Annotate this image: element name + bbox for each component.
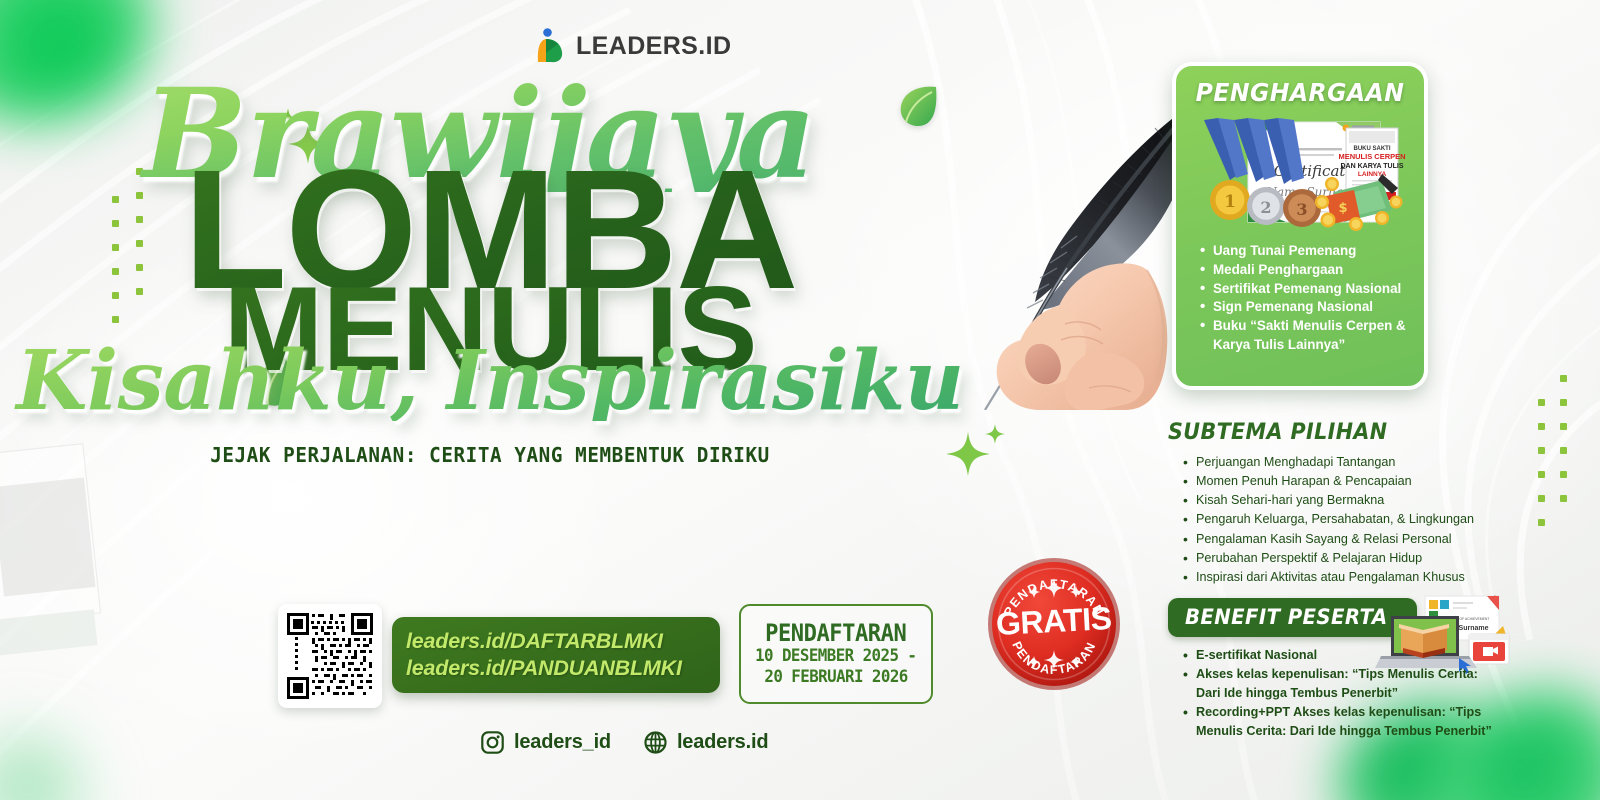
award-card-title: PENGHARGAAN bbox=[1193, 78, 1407, 107]
leaders-id-mark-icon bbox=[533, 28, 567, 64]
benefit-section: BENEFIT PESERTA CERTIFICATE OF ACHIEVEME… bbox=[1168, 598, 1508, 741]
award-benefits-list: Uang Tunai Pemenang Medali Penghargaan S… bbox=[1186, 242, 1414, 354]
list-item: Perjuangan Menghadapi Tantangan bbox=[1186, 453, 1498, 472]
registration-period-line1: 10 DESEMBER 2025 - bbox=[755, 646, 916, 666]
logo-text: LEADERS.ID bbox=[576, 32, 731, 61]
subtema-list: Perjuangan Menghadapi Tantangan Momen Pe… bbox=[1168, 453, 1498, 587]
website-handle: leaders.id bbox=[677, 731, 768, 754]
svg-text:2: 2 bbox=[1260, 198, 1271, 217]
dot-pattern-right bbox=[1538, 375, 1598, 515]
list-item: Menulis Cerita: Dari Ide hingga Tembus P… bbox=[1186, 723, 1508, 741]
corner-blob-bottom-left bbox=[0, 720, 100, 800]
globe-icon bbox=[643, 730, 668, 755]
list-item: Akses kelas kepenulisan: “Tips Menulis C… bbox=[1186, 666, 1508, 684]
svg-text:1: 1 bbox=[1224, 192, 1236, 212]
list-item: Dari Ide hingga Tembus Penerbit” bbox=[1186, 685, 1508, 703]
list-item: E-sertifikat Nasional bbox=[1186, 647, 1508, 665]
list-item: Recording+PPT Akses kelas kepenulisan: “… bbox=[1186, 704, 1508, 722]
list-item: Pengaruh Keluarga, Persahabatan, & Lingk… bbox=[1186, 510, 1498, 529]
list-item: Uang Tunai Pemenang bbox=[1202, 242, 1414, 260]
footer-socials: leaders_id leaders.id bbox=[480, 730, 768, 755]
registration-period-title: PENDAFTARAN bbox=[765, 621, 906, 646]
svg-text:3: 3 bbox=[1296, 200, 1307, 219]
list-item: Buku “Sakti Menulis Cerpen & bbox=[1202, 317, 1414, 335]
award-card: PENGHARGAAN Certificate Name Surname bbox=[1172, 62, 1428, 390]
headline-tagline: JEJAK PERJALANAN: CERITA YANG MEMBENTUK … bbox=[29, 443, 950, 467]
subtema-title: SUBTEMA PILIHAN bbox=[1168, 420, 1478, 445]
registration-period-box: PENDAFTARAN 10 DESEMBER 2025 - 20 FEBRUA… bbox=[739, 604, 933, 704]
headline-block: Brawijaya LOMBA MENULIS Kisahku, Inspira… bbox=[0, 78, 980, 467]
url-daftar[interactable]: leaders.id/DAFTARBLMKI bbox=[406, 629, 720, 654]
svg-text:$: $ bbox=[1338, 201, 1347, 216]
svg-text:GRATIS: GRATIS bbox=[995, 600, 1112, 642]
url-panduan[interactable]: leaders.id/PANDUANBLMKI bbox=[406, 656, 720, 681]
website-handle-block[interactable]: leaders.id bbox=[643, 730, 768, 755]
list-item: Karya Tulis Lainnya” bbox=[1202, 336, 1414, 354]
list-item: Momen Penuh Harapan & Pencapaian bbox=[1186, 472, 1498, 491]
instagram-handle-block[interactable]: leaders_id bbox=[480, 730, 611, 755]
svg-text:DAN KARYA TULIS: DAN KARYA TULIS bbox=[1340, 163, 1403, 170]
list-item: Kisah Sehari-hari yang Bermakna bbox=[1186, 491, 1498, 510]
svg-text:MENULIS CERPEN: MENULIS CERPEN bbox=[1338, 152, 1405, 161]
list-item: Medali Penghargaan bbox=[1202, 261, 1414, 279]
headline-subtitle: Kisahku, Inspirasiku bbox=[0, 343, 980, 421]
registration-period-line2: 20 FEBRUARI 2026 bbox=[764, 667, 907, 687]
free-registration-seal: PENDAFTARAN GRATIS PENDAFTARAN bbox=[986, 556, 1122, 692]
poster-canvas: LEADERS.ID Brawijaya LOMBA MENULIS Kisah… bbox=[0, 0, 1600, 800]
instagram-handle: leaders_id bbox=[514, 731, 611, 754]
subtema-section: SUBTEMA PILIHAN Perjuangan Menghadapi Ta… bbox=[1168, 420, 1498, 587]
instagram-icon bbox=[480, 730, 505, 755]
list-item: Inspirasi dari Aktivitas atau Pengalaman… bbox=[1186, 568, 1498, 587]
list-item: Sertifikat Pemenang Nasional bbox=[1202, 280, 1414, 298]
brand-logo[interactable]: LEADERS.ID bbox=[533, 28, 731, 64]
list-item: Perubahan Perspektif & Pelajaran Hidup bbox=[1186, 549, 1498, 568]
qr-code[interactable] bbox=[278, 604, 382, 708]
award-image: Certificate Name Surname 1 2 bbox=[1186, 114, 1414, 234]
benefit-title: BENEFIT PESERTA bbox=[1185, 605, 1388, 629]
list-item: Pengalaman Kasih Sayang & Relasi Persona… bbox=[1186, 530, 1498, 549]
list-item: Sign Pemenang Nasional bbox=[1202, 298, 1414, 316]
hand-with-quill-illustration bbox=[955, 58, 1200, 410]
registration-links[interactable]: leaders.id/DAFTARBLMKI leaders.id/PANDUA… bbox=[392, 617, 720, 693]
benefit-list: E-sertifikat Nasional Akses kelas kepenu… bbox=[1168, 647, 1508, 740]
sparkle-icon-right-small bbox=[985, 424, 1005, 444]
